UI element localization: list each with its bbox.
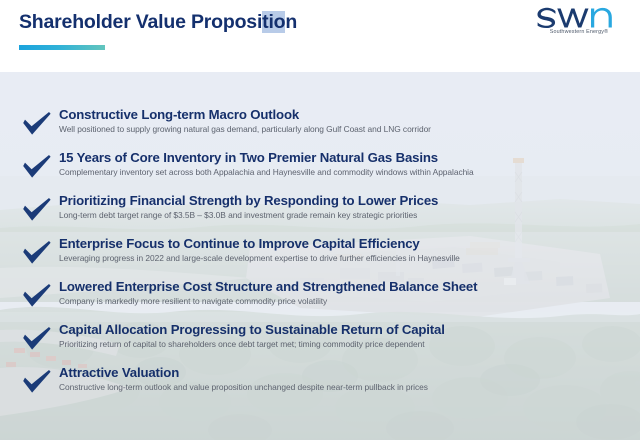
slide-shareholder-value-proposition: Constructive Long-term Macro Outlook Wel… bbox=[0, 0, 640, 440]
list-item: Enterprise Focus to Continue to Improve … bbox=[18, 235, 628, 275]
list-item-subtext: Leveraging progress in 2022 and large-sc… bbox=[59, 253, 460, 264]
title-accent-bar bbox=[19, 45, 105, 50]
logo-tagline: Southwestern Energy® bbox=[536, 29, 622, 35]
swn-wordmark-icon bbox=[536, 6, 624, 28]
list-item-heading: Enterprise Focus to Continue to Improve … bbox=[59, 235, 460, 252]
list-item-text: Prioritizing Financial Strength by Respo… bbox=[59, 192, 438, 221]
check-icon bbox=[20, 323, 54, 355]
list-item-heading: Prioritizing Financial Strength by Respo… bbox=[59, 192, 438, 209]
list-item-subtext: Complementary inventory set across both … bbox=[59, 167, 474, 178]
list-item-heading: Constructive Long-term Macro Outlook bbox=[59, 106, 431, 123]
page-title-part2: n bbox=[285, 11, 297, 33]
check-icon bbox=[20, 151, 54, 183]
slide-header: Shareholder Value Proposition Southweste… bbox=[0, 0, 640, 72]
swn-logo: Southwestern Energy® bbox=[536, 6, 622, 42]
list-item-subtext: Company is markedly more resilient to na… bbox=[59, 296, 477, 307]
list-item-text: Capital Allocation Progressing to Sustai… bbox=[59, 321, 445, 350]
list-item-heading: Capital Allocation Progressing to Sustai… bbox=[59, 321, 445, 338]
page-title: Shareholder Value Proposition bbox=[19, 11, 297, 34]
list-item-text: Lowered Enterprise Cost Structure and St… bbox=[59, 278, 477, 307]
check-icon bbox=[20, 237, 54, 269]
list-item-text: Attractive Valuation Constructive long-t… bbox=[59, 364, 428, 393]
list-item: 15 Years of Core Inventory in Two Premie… bbox=[18, 149, 628, 189]
list-item-heading: 15 Years of Core Inventory in Two Premie… bbox=[59, 149, 474, 166]
list-item-subtext: Well positioned to supply growing natura… bbox=[59, 124, 431, 135]
list-item: Attractive Valuation Constructive long-t… bbox=[18, 364, 628, 404]
list-item-subtext: Prioritizing return of capital to shareh… bbox=[59, 339, 445, 350]
list-item-subtext: Long-term debt target range of $3.5B – $… bbox=[59, 210, 438, 221]
list-item-text: Enterprise Focus to Continue to Improve … bbox=[59, 235, 460, 264]
list-item-text: Constructive Long-term Macro Outlook Wel… bbox=[59, 106, 431, 135]
page-title-part1: Shareholder Value Proposi bbox=[19, 11, 262, 33]
check-icon bbox=[20, 366, 54, 398]
list-item-subtext: Constructive long-term outlook and value… bbox=[59, 382, 428, 393]
list-item: Lowered Enterprise Cost Structure and St… bbox=[18, 278, 628, 318]
list-item-heading: Attractive Valuation bbox=[59, 364, 428, 381]
page-title-selected-text: tio bbox=[262, 11, 285, 33]
check-icon bbox=[20, 280, 54, 312]
list-item: Constructive Long-term Macro Outlook Wel… bbox=[18, 106, 628, 146]
list-item-heading: Lowered Enterprise Cost Structure and St… bbox=[59, 278, 477, 295]
bullet-list: Constructive Long-term Macro Outlook Wel… bbox=[0, 72, 640, 440]
list-item: Capital Allocation Progressing to Sustai… bbox=[18, 321, 628, 361]
check-icon bbox=[20, 194, 54, 226]
list-item-text: 15 Years of Core Inventory in Two Premie… bbox=[59, 149, 474, 178]
check-icon bbox=[20, 108, 54, 140]
list-item: Prioritizing Financial Strength by Respo… bbox=[18, 192, 628, 232]
